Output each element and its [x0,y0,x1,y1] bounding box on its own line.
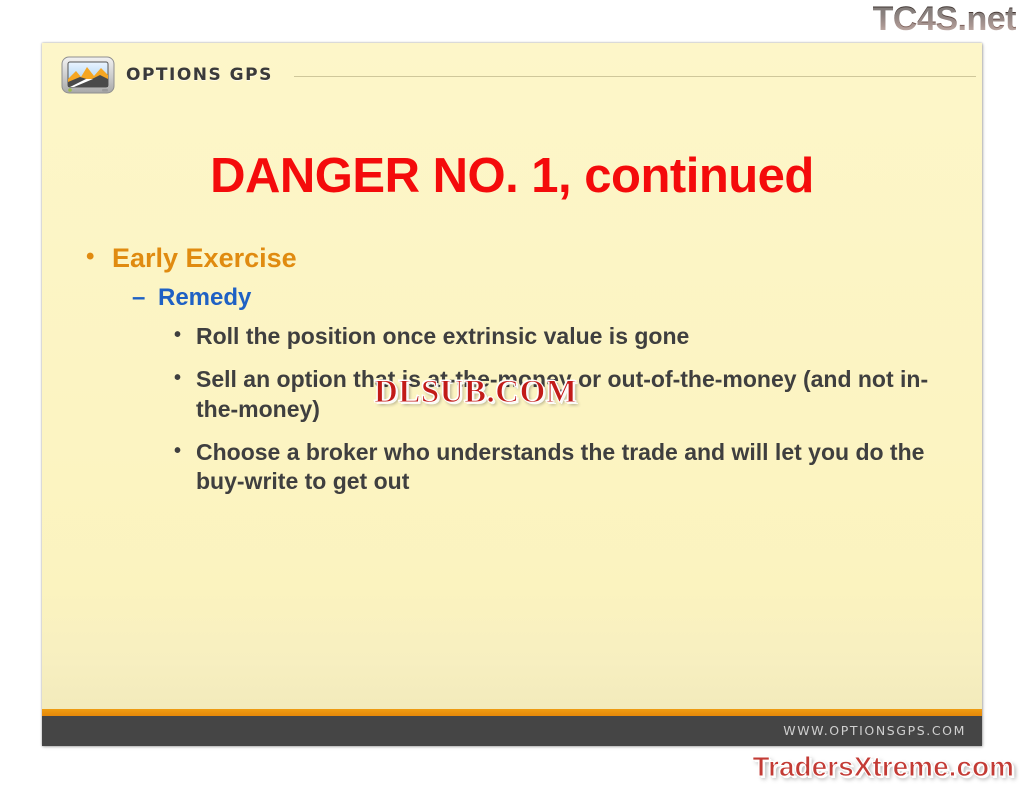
tradersxtreme-watermark: TradersXtreme.com [753,751,1014,783]
bullet-dot-icon: • [174,438,196,465]
bullet-level3-item: • Choose a broker who understands the tr… [174,438,958,497]
bullet-level3-label: Choose a broker who understands the trad… [196,438,941,497]
bullet-level1-label: Early Exercise [112,243,297,274]
bullet-level2-label: Remedy [158,284,251,312]
bullet-dash-icon: – [132,284,158,312]
slide-title: DANGER NO. 1, continued [42,151,982,202]
slide-header: Options GPS [42,43,982,101]
header-divider [294,76,976,77]
bullet-dot-icon: • [174,365,196,392]
bullet-level3-label: Roll the position once extrinsic value i… [196,322,689,351]
slide-footer: www.OptionsGPS.com [42,716,982,746]
bullet-level1: • Early Exercise [86,243,958,274]
bullet-level2: – Remedy [132,284,958,312]
bullet-dot-icon: • [174,322,196,349]
bullet-level3-item: • Roll the position once extrinsic value… [174,322,958,351]
brand-name: Options GPS [126,65,273,85]
gps-monitor-icon [60,55,116,99]
footer-accent-rule [42,709,982,716]
dlsub-watermark: DLSUB.COM [374,374,577,411]
tc4s-watermark: TC4S.net [873,2,1016,36]
footer-url: www.OptionsGPS.com [783,723,966,738]
bullet-dot-icon: • [86,243,112,272]
slide-screenshot: TC4S.net [0,0,1024,791]
